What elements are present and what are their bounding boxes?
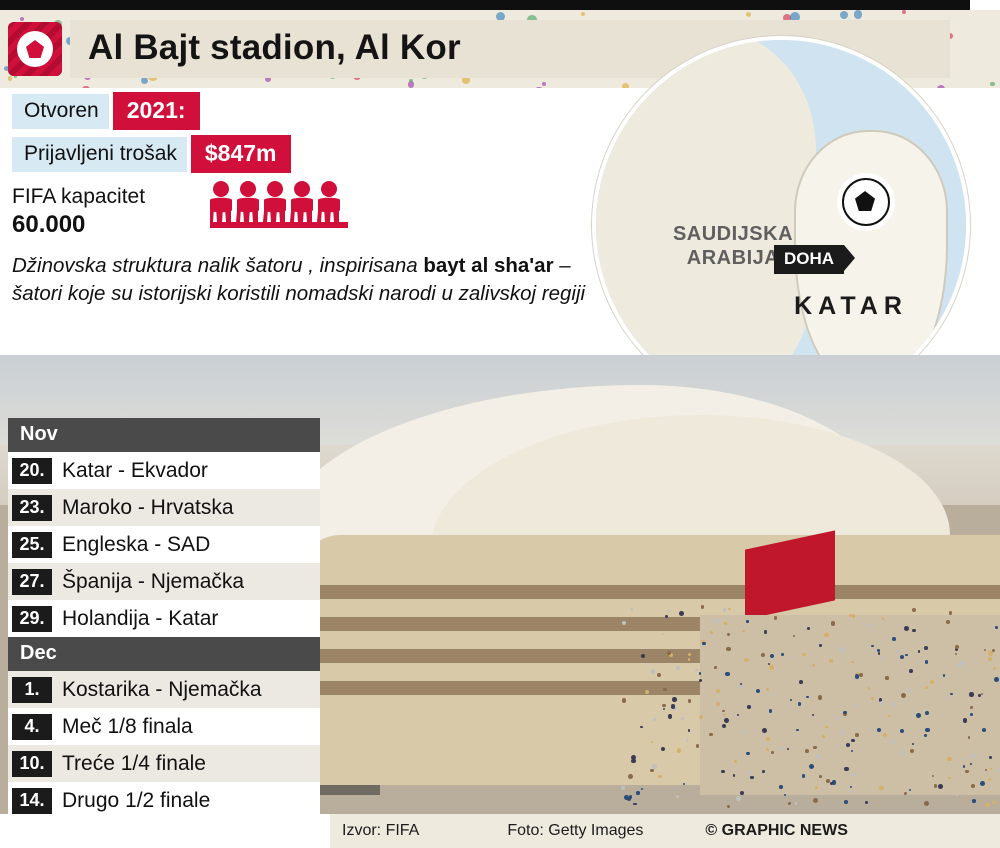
- fixture-row[interactable]: 27.Španija - Njemačka: [8, 563, 320, 600]
- fixture-date: 23.: [12, 495, 52, 521]
- credit-agency: © GRAPHIC NEWS: [705, 822, 847, 840]
- fixtures-month-header: Dec: [8, 637, 320, 671]
- people-icon: [210, 180, 370, 232]
- fixture-date: 1.: [12, 677, 52, 703]
- credits-bar: Izvor: FIFA Foto: Getty Images © GRAPHIC…: [330, 814, 1000, 848]
- football-marker-icon: [842, 178, 890, 226]
- infographic-root: Al Bajt stadion, Al Kor Otvoren 2021: Pr…: [0, 0, 1000, 848]
- capacity-value: 60.000: [12, 211, 85, 238]
- fixture-row[interactable]: 10.Treće 1/4 finale: [8, 745, 320, 782]
- fixture-date: 27.: [12, 569, 52, 595]
- fact-value-cost: $847m: [191, 135, 291, 173]
- fixture-row[interactable]: 1.Kostarika - Njemačka: [8, 671, 320, 708]
- fixture-row[interactable]: 25.Engleska - SAD: [8, 526, 320, 563]
- fixture-match: Drugo 1/2 finale: [62, 789, 210, 813]
- map-city-doha-badge: DOHA: [774, 245, 844, 274]
- fact-label-cost: Prijavljeni trošak: [12, 137, 187, 172]
- fixture-row[interactable]: 4.Meč 1/8 finala: [8, 708, 320, 745]
- fixture-match: Katar - Ekvador: [62, 459, 208, 483]
- fixtures-month-header: Nov: [8, 418, 320, 452]
- top-black-bar: [0, 0, 1000, 10]
- bottom-left-strip: [0, 814, 330, 848]
- credit-photo: Foto: Getty Images: [507, 822, 643, 840]
- fixture-match: Maroko - Hrvatska: [62, 496, 234, 520]
- fixtures-list: Nov20.Katar - Ekvador23.Maroko - Hrvatsk…: [8, 418, 320, 819]
- fact-value-opened: 2021:: [113, 92, 200, 130]
- description-line1: Džinovska struktura nalik šatoru , inspi…: [12, 254, 418, 277]
- fixture-row[interactable]: 23.Maroko - Hrvatska: [8, 489, 320, 526]
- fixture-row[interactable]: 20.Katar - Ekvador: [8, 452, 320, 489]
- map-label-qatar: KATAR: [736, 292, 966, 321]
- fact-row-opened: Otvoren 2021:: [12, 92, 200, 130]
- fixture-match: Kostarika - Njemačka: [62, 678, 262, 702]
- map-label-saudi-line2: ARABIJA: [687, 247, 779, 269]
- fact-row-cost: Prijavljeni trošak $847m: [12, 135, 291, 173]
- fixture-date: 20.: [12, 458, 52, 484]
- fixture-date: 29.: [12, 606, 52, 632]
- fixture-date: 25.: [12, 532, 52, 558]
- description-text: Džinovska struktura nalik šatoru , inspi…: [12, 252, 587, 307]
- description-line3: nomadski narodi u zalivskoj regiji: [285, 282, 585, 305]
- credit-source: Izvor: FIFA: [342, 822, 419, 840]
- fixture-match: Holandija - Katar: [62, 607, 218, 631]
- fixture-match: Meč 1/8 finala: [62, 715, 193, 739]
- fixture-date: 4.: [12, 714, 52, 740]
- fixture-match: Španija - Njemačka: [62, 570, 244, 594]
- map-label-saudi-line1: SAUDIJSKA: [673, 223, 793, 245]
- capacity-label: FIFA kapacitet: [12, 185, 145, 208]
- description-bold: bayt al sha'ar: [423, 254, 553, 277]
- fixture-date: 14.: [12, 788, 52, 814]
- fixture-date: 10.: [12, 751, 52, 777]
- fixture-row[interactable]: 29.Holandija - Katar: [8, 600, 320, 637]
- fixture-match: Treće 1/4 finale: [62, 752, 206, 776]
- football-badge-icon: [8, 22, 62, 76]
- capacity-block: FIFA kapacitet 60.000: [12, 184, 145, 240]
- fixture-match: Engleska - SAD: [62, 533, 210, 557]
- fact-label-opened: Otvoren: [12, 94, 109, 129]
